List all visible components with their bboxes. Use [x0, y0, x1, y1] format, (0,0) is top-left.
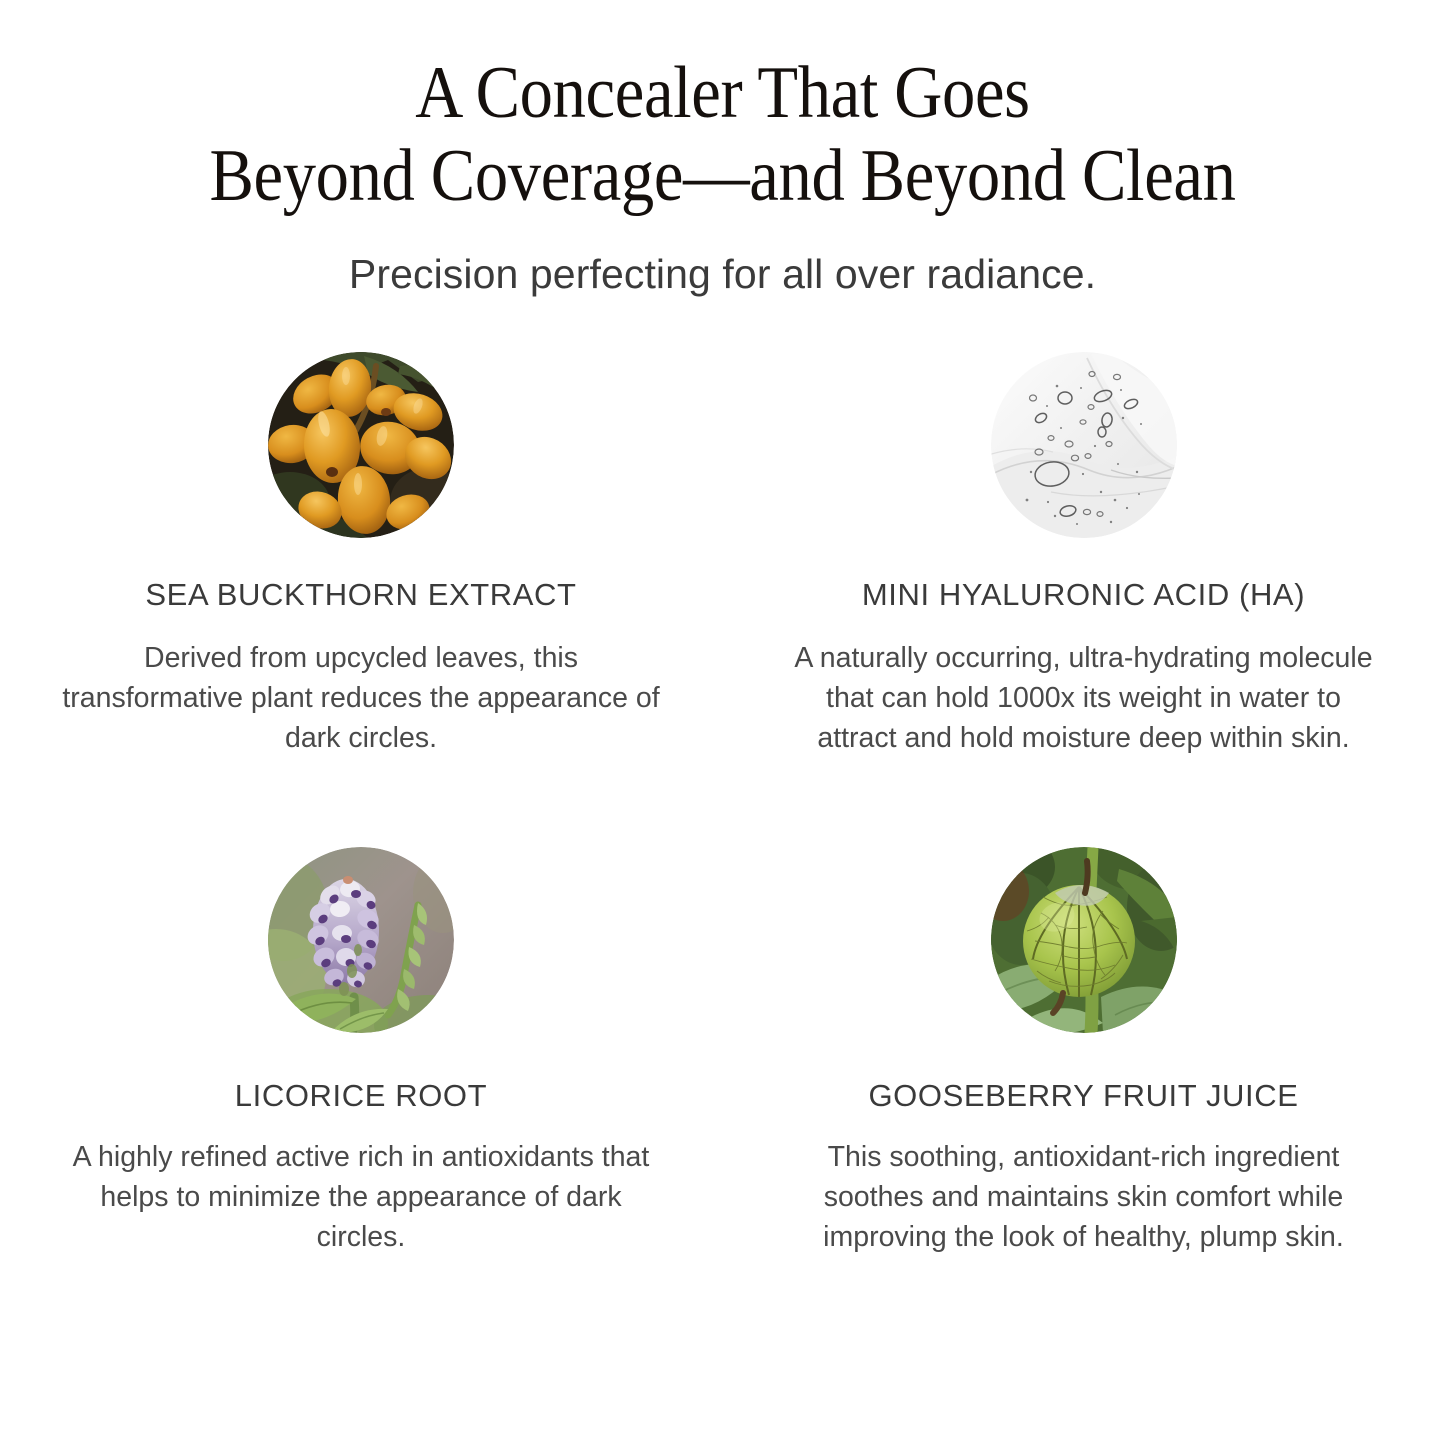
ingredient-card-gooseberry-fruit-juice: GOOSEBERRY FRUIT JUICE This soothing, an…	[722, 847, 1445, 1258]
thumb-wrap	[268, 847, 454, 1033]
ingredient-grid: SEA BUCKTHORN EXTRACT Derived from upcyc…	[0, 352, 1445, 1258]
ingredient-title: MINI HYALURONIC ACID (HA)	[862, 576, 1305, 613]
ingredient-card-mini-hyaluronic-acid: MINI HYALURONIC ACID (HA) A naturally oc…	[722, 352, 1445, 759]
page-title: A Concealer That Goes Beyond Coverage—an…	[72, 52, 1373, 218]
thumb-wrap	[268, 352, 454, 538]
ingredient-benefits-page: A Concealer That Goes Beyond Coverage—an…	[0, 0, 1445, 1445]
page-subtitle: Precision perfecting for all over radian…	[0, 250, 1445, 299]
headline-line-1: A Concealer That Goes	[72, 52, 1373, 135]
ingredient-description: Derived from upcycled leaves, this trans…	[61, 639, 661, 759]
ingredient-card-licorice-root: LICORICE ROOT A highly refined active ri…	[0, 847, 722, 1258]
ingredient-title: LICORICE ROOT	[235, 1077, 487, 1114]
ingredient-card-sea-buckthorn: SEA BUCKTHORN EXTRACT Derived from upcyc…	[0, 352, 722, 759]
clear-gel-texture-photo-icon	[991, 352, 1177, 538]
ingredient-description: A naturally occurring, ultra-hydrating m…	[784, 639, 1384, 759]
ingredient-title: GOOSEBERRY FRUIT JUICE	[868, 1077, 1298, 1114]
page-header: A Concealer That Goes Beyond Coverage—an…	[0, 0, 1445, 299]
ingredient-title: SEA BUCKTHORN EXTRACT	[145, 576, 576, 613]
ingredient-description: This soothing, antioxidant-rich ingredie…	[784, 1138, 1384, 1258]
gooseberry-husk-photo-icon	[991, 847, 1177, 1033]
headline-line-2: Beyond Coverage—and Beyond Clean	[72, 135, 1373, 218]
thumb-wrap	[991, 352, 1177, 538]
licorice-flower-photo-icon	[268, 847, 454, 1033]
ingredient-description: A highly refined active rich in antioxid…	[61, 1138, 661, 1258]
thumb-wrap	[991, 847, 1177, 1033]
sea-buckthorn-berries-photo-icon	[268, 352, 454, 538]
